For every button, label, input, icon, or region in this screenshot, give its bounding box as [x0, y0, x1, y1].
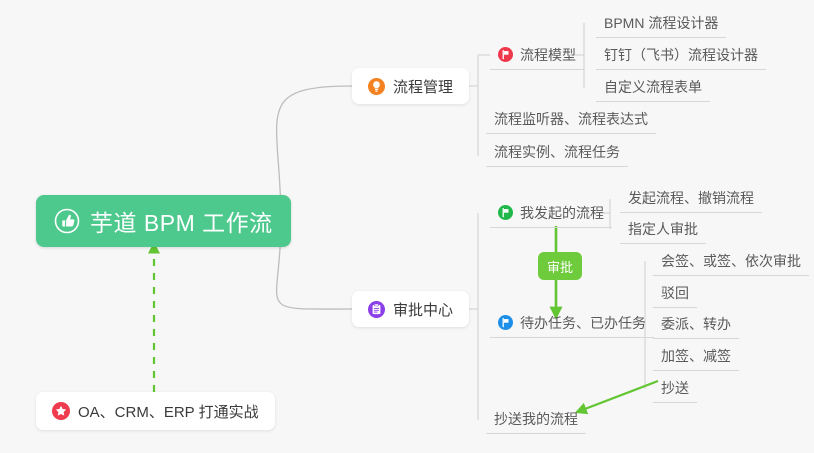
node-custom-process-form[interactable]: 自定义流程表单 [596, 72, 710, 102]
node-carbon-copy[interactable]: 抄送 [653, 373, 697, 403]
label-process-listener-expression: 流程监听器、流程表达式 [494, 109, 648, 129]
label-carbon-copy: 抄送 [661, 378, 689, 398]
label-multi-sign-approval: 会签、或签、依次审批 [661, 251, 801, 271]
lightbulb-icon [368, 78, 385, 95]
label-delegate-transfer: 委派、转办 [661, 314, 731, 334]
node-bpmn-designer[interactable]: BPMN 流程设计器 [596, 8, 726, 38]
node-delegate-transfer[interactable]: 委派、转办 [653, 309, 739, 339]
flag-icon [498, 315, 513, 330]
tag-label-approval: 审批 [547, 257, 573, 276]
node-reject[interactable]: 驳回 [653, 278, 697, 308]
node-add-remove-sign[interactable]: 加签、减签 [653, 341, 739, 371]
branch-node-process-management[interactable]: 流程管理 [352, 68, 469, 104]
footer-node-oa-crm-erp[interactable]: OA、CRM、ERP 打通实战 [36, 392, 275, 430]
node-process-model[interactable]: 流程模型 [490, 40, 584, 70]
node-process-listener-expression[interactable]: 流程监听器、流程表达式 [486, 104, 656, 134]
thumbs-up-icon [54, 208, 80, 234]
mindmap-canvas: 芋道 BPM 工作流 流程管理 流程模型 BPMN 流程设计器 钉钉（飞书）流程 [0, 0, 814, 453]
root-label: 芋道 BPM 工作流 [90, 204, 273, 238]
branch-label-approval-center: 审批中心 [393, 299, 453, 320]
label-assignee-approval: 指定人审批 [628, 219, 698, 239]
label-process-model: 流程模型 [520, 45, 576, 65]
node-start-cancel-process[interactable]: 发起流程、撤销流程 [620, 183, 762, 213]
label-add-remove-sign: 加签、减签 [661, 346, 731, 366]
star-icon [52, 402, 70, 420]
label-custom-process-form: 自定义流程表单 [604, 77, 702, 97]
label-dingtalk-feishu-designer: 钉钉（飞书）流程设计器 [604, 45, 758, 65]
root-node[interactable]: 芋道 BPM 工作流 [36, 195, 291, 247]
node-multi-sign-approval[interactable]: 会签、或签、依次审批 [653, 246, 809, 276]
node-cc-to-me-process[interactable]: 抄送我的流程 [486, 404, 586, 434]
branch-label-process-management: 流程管理 [393, 76, 453, 97]
label-cc-to-me-process: 抄送我的流程 [494, 409, 578, 429]
annotation-arrow-carbon-copy [577, 381, 658, 412]
node-my-started-process[interactable]: 我发起的流程 [490, 198, 612, 228]
label-my-started-process: 我发起的流程 [520, 203, 604, 223]
label-bpmn-designer: BPMN 流程设计器 [604, 13, 718, 33]
node-process-instance-task[interactable]: 流程实例、流程任务 [486, 137, 628, 167]
label-reject: 驳回 [661, 283, 689, 303]
node-dingtalk-feishu-designer[interactable]: 钉钉（飞书）流程设计器 [596, 40, 766, 70]
label-process-instance-task: 流程实例、流程任务 [494, 142, 620, 162]
flag-icon [498, 205, 513, 220]
tag-node-approval[interactable]: 审批 [538, 252, 582, 280]
node-assignee-approval[interactable]: 指定人审批 [620, 214, 706, 244]
footer-label-oa-crm-erp: OA、CRM、ERP 打通实战 [78, 401, 259, 422]
clipboard-icon [368, 301, 385, 318]
node-todo-done-task[interactable]: 待办任务、已办任务 [490, 308, 654, 338]
flag-icon [498, 47, 513, 62]
label-start-cancel-process: 发起流程、撤销流程 [628, 188, 754, 208]
label-todo-done-task: 待办任务、已办任务 [520, 313, 646, 333]
branch-node-approval-center[interactable]: 审批中心 [352, 291, 469, 327]
